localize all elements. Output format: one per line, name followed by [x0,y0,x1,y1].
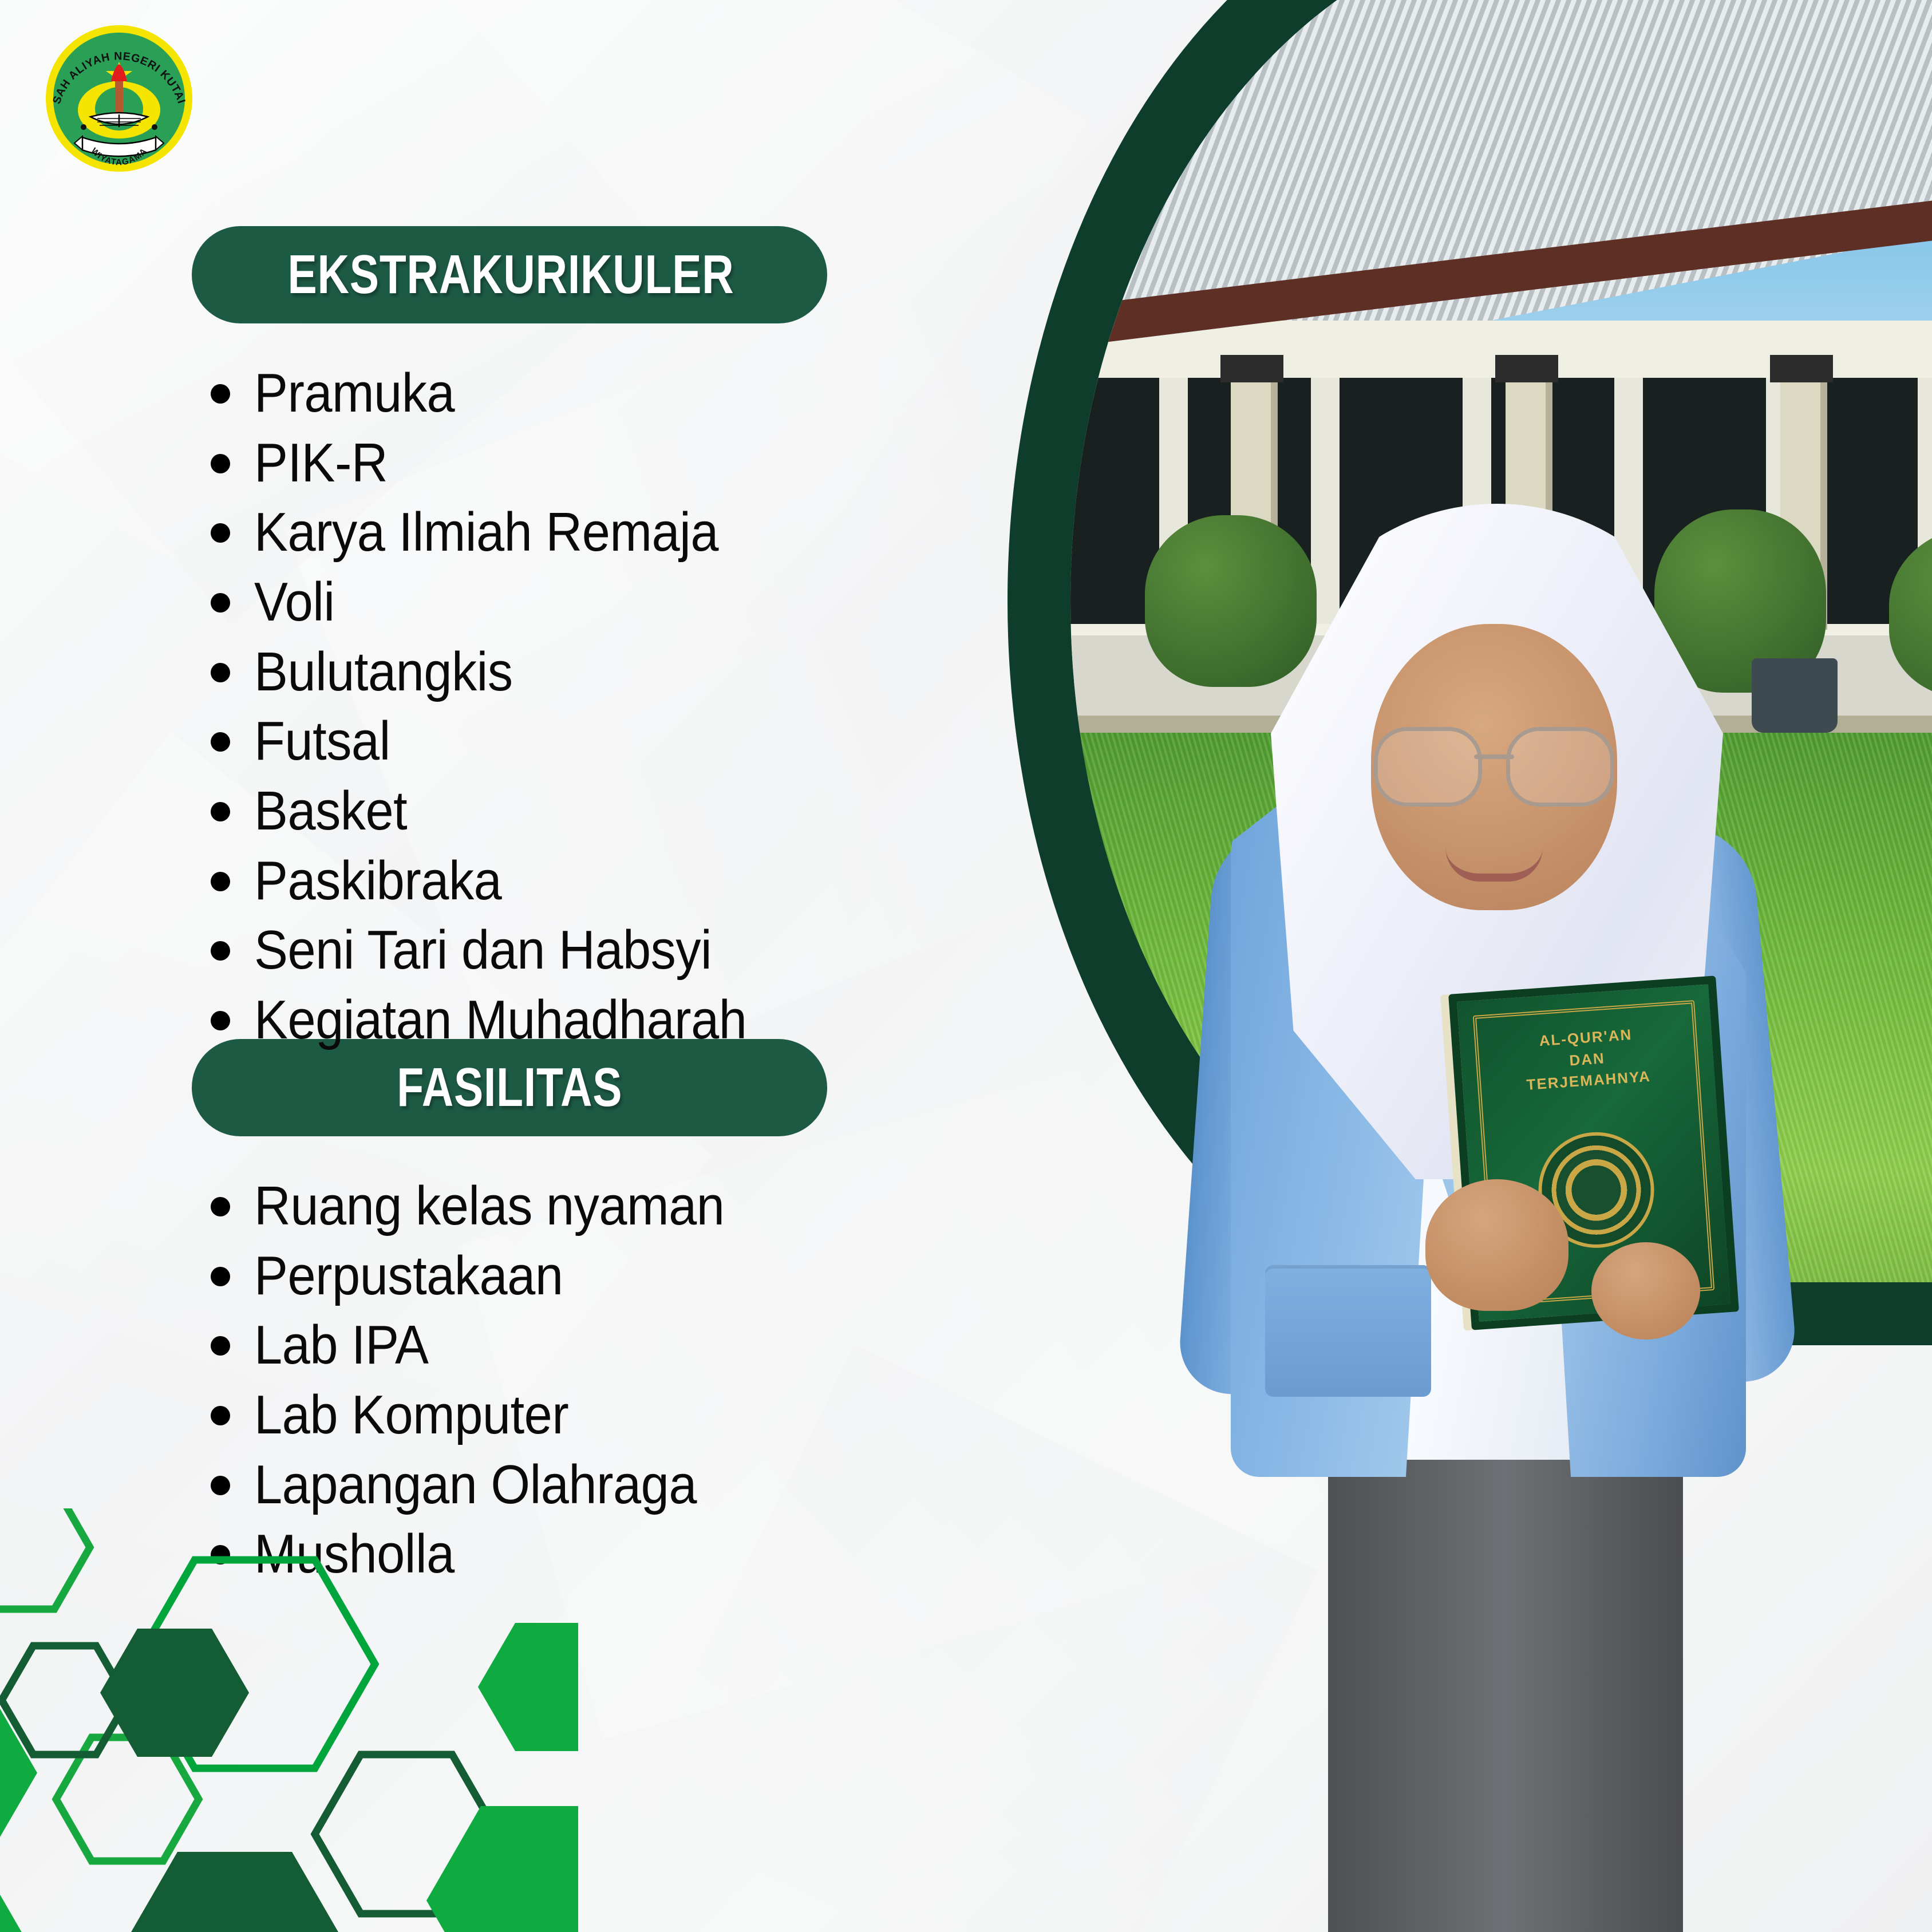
list-item: Kegiatan Muhadharah [211,990,789,1050]
list-item: Karya Ilmiah Remaja [211,503,789,562]
bullet-dot-icon [211,732,230,752]
list-item: Perpustakaan [211,1246,765,1306]
list-item: Bulutangkis [211,642,789,702]
list-item: Lab IPA [211,1315,765,1375]
list-item-label: Basket [254,781,407,841]
bullet-dot-icon [211,454,230,473]
list-item: Voli [211,572,789,632]
heading-fasilitas-label: FASILITAS [397,1056,622,1119]
list-item: Ruang kelas nyaman [211,1176,765,1236]
bullet-dot-icon [211,384,230,404]
bullet-dot-icon [211,663,230,682]
ekstrakurikuler-list: PramukaPIK-RKarya Ilmiah RemajaVoliBulut… [211,364,789,1060]
hexagon-decoration [0,1508,578,1932]
bullet-dot-icon [211,1267,230,1286]
bullet-dot-icon [211,1476,230,1495]
bullet-dot-icon [211,1011,230,1030]
list-item: Lab Komputer [211,1385,765,1445]
heading-ekstrakurikuler-label: EKSTRAKURIKULER [288,243,734,306]
school-logo: MADRASAH ALIYAH NEGERI KUTAI BARAT WIYAT… [33,13,205,184]
list-item: Paskibraka [211,851,789,911]
list-item-label: Ruang kelas nyaman [254,1176,724,1236]
list-item-label: Voli [254,572,335,632]
list-item-label: Lapangan Olahraga [254,1455,697,1515]
hand-left [1425,1179,1568,1311]
bullet-dot-icon [211,872,230,891]
list-item-label: PIK-R [254,433,388,493]
bullet-dot-icon [211,1197,230,1216]
list-item: Seni Tari dan Habsyi [211,920,789,980]
list-item: Pramuka [211,364,789,423]
list-item: Futsal [211,712,789,771]
glasses-icon [1374,727,1614,801]
bullet-dot-icon [211,941,230,961]
list-item-label: Perpustakaan [254,1246,563,1306]
student-cutout: AL-QUR'AN DAN TERJEMAHNYA [1156,504,1832,1932]
list-item: PIK-R [211,433,789,493]
jacket-pocket [1265,1265,1431,1397]
list-item-label: Karya Ilmiah Remaja [254,503,718,562]
list-item-label: Bulutangkis [254,642,513,702]
hand-right [1591,1242,1700,1340]
bullet-dot-icon [211,523,230,543]
list-item-label: Pramuka [254,364,455,423]
list-item-label: Lab IPA [254,1315,428,1375]
list-item-label: Futsal [254,712,390,771]
poster-canvas: AL-QUR'AN DAN TERJEMAHNYA [0,0,1932,1932]
list-item: Basket [211,781,789,841]
heading-ekstrakurikuler: EKSTRAKURIKULER [192,226,827,323]
bullet-dot-icon [211,593,230,613]
bullet-dot-icon [211,802,230,821]
list-item-label: Kegiatan Muhadharah [254,990,746,1050]
list-item-label: Paskibraka [254,851,501,911]
bullet-dot-icon [211,1336,230,1356]
list-item: Lapangan Olahraga [211,1455,765,1515]
bullet-dot-icon [211,1406,230,1425]
list-item-label: Lab Komputer [254,1385,568,1445]
list-item-label: Seni Tari dan Habsyi [254,920,712,980]
